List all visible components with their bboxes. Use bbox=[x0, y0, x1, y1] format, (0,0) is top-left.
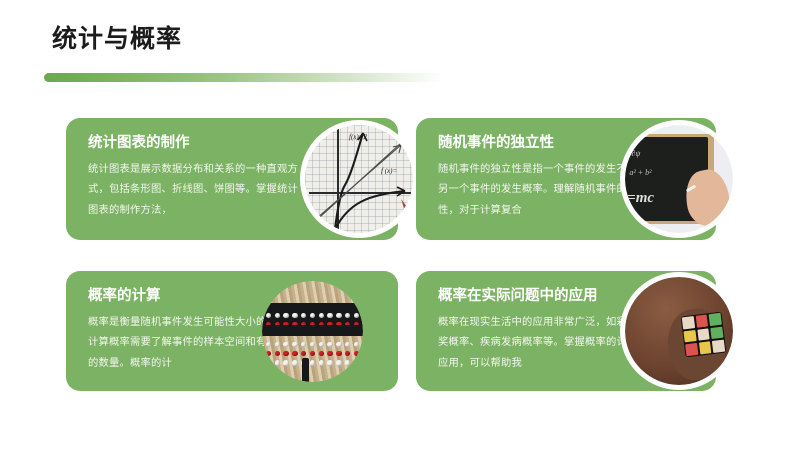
bead bbox=[345, 360, 351, 366]
card-text-block: 统计图表的制作 统计图表是展示数据分布和关系的一种直观方式，包括条形图、折线图、… bbox=[88, 135, 300, 221]
photo-disc bbox=[262, 281, 363, 382]
cube-tile bbox=[684, 329, 697, 342]
photo-image bbox=[262, 281, 363, 382]
photo-image: f(x)=2 f (x)= bbox=[305, 125, 413, 233]
card-title: 概率在实际问题中的应用 bbox=[438, 288, 650, 305]
bead bbox=[336, 360, 342, 366]
chalk-line-3: =mc bbox=[627, 190, 654, 207]
bead bbox=[283, 360, 289, 366]
photo-disc: f(x)=2 f (x)= bbox=[305, 125, 413, 233]
bead bbox=[319, 360, 325, 366]
chalk-line-2: a² + b² bbox=[629, 168, 651, 177]
card-text-block: 随机事件的独立性 随机事件的独立性是指一个事件的发生不影响另一个事件的发生概率。… bbox=[438, 135, 650, 221]
card-title: 统计图表的制作 bbox=[88, 135, 300, 152]
card-body: 随机事件的独立性是指一个事件的发生不影响另一个事件的发生概率。理解随机事件的独立… bbox=[438, 160, 650, 220]
cube-tile bbox=[686, 342, 699, 355]
photo-disc: ∂ψ a² + b² =mc bbox=[625, 125, 733, 233]
card-text-block: 概率在实际问题中的应用 概率在现实生活中的应用非常广泛，如彩票中奖概率、疾病发病… bbox=[438, 288, 650, 374]
photo-image: ∂ψ a² + b² =mc bbox=[625, 125, 733, 233]
curve-overlay: f(x)=2 f (x)= bbox=[305, 125, 413, 233]
bead bbox=[327, 360, 333, 366]
slide-root: { "slide": { "title": "统计与概率", "accent_c… bbox=[0, 0, 799, 450]
page-title: 统计与概率 bbox=[52, 24, 182, 54]
card-title: 随机事件的独立性 bbox=[438, 135, 650, 152]
svg-text:f(x)=2: f(x)=2 bbox=[349, 133, 367, 141]
photo-image bbox=[625, 277, 733, 385]
rubiks-cube-face bbox=[681, 311, 727, 357]
cube-tile bbox=[697, 328, 710, 341]
cube-tile bbox=[682, 316, 695, 329]
svg-text:f (x)=: f (x)= bbox=[381, 167, 397, 175]
abacus-rail-middle bbox=[262, 325, 363, 335]
cube-tile bbox=[696, 314, 709, 327]
exponential-graph-photo: f(x)=2 f (x)= bbox=[300, 120, 418, 238]
blackboard-formula-photo: ∂ψ a² + b² =mc bbox=[620, 120, 738, 238]
abacus-bead-row-5 bbox=[262, 354, 363, 372]
rubiks-cube-photo bbox=[620, 272, 738, 390]
chalk-line-1: ∂ψ bbox=[631, 149, 640, 158]
cube-tile bbox=[710, 326, 723, 339]
card-body: 统计图表是展示数据分布和关系的一种直观方式，包括条形图、折线图、饼图等。掌握统计… bbox=[88, 160, 300, 220]
abacus-photo bbox=[262, 281, 363, 382]
photo-disc bbox=[625, 277, 733, 385]
bead bbox=[266, 360, 272, 366]
bead bbox=[292, 360, 298, 366]
bead bbox=[310, 360, 316, 366]
abacus-side-post bbox=[302, 358, 309, 382]
bead bbox=[354, 360, 360, 366]
cube-tile bbox=[709, 313, 722, 326]
title-accent-bar bbox=[44, 73, 444, 82]
cube-tile bbox=[712, 339, 725, 352]
card-body: 概率在现实生活中的应用非常广泛，如彩票中奖概率、疾病发病概率等。掌握概率的计算和… bbox=[438, 313, 650, 373]
cube-tile bbox=[699, 341, 712, 354]
bead bbox=[275, 360, 281, 366]
